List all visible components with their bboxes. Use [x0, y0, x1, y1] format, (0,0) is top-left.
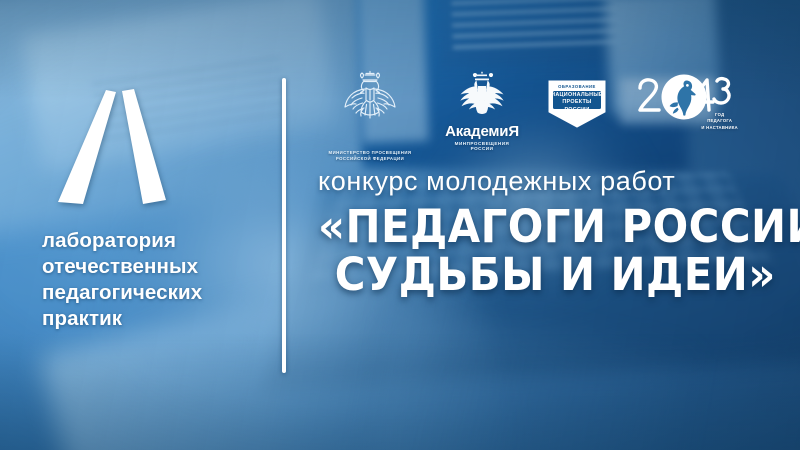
- brand-name-line-3: педагогических: [42, 280, 268, 306]
- headline-line-2: СУДЬБЫ И ИДЕИ»: [335, 251, 755, 299]
- title-block: конкурс молодежных работ «ПЕДАГОГИ РОССИ…: [318, 168, 788, 299]
- double-headed-eagle-icon: [460, 71, 503, 114]
- logo-strip: МИНИСТЕРСТВО ПРОСВЕЩЕНИЯ РОССИЙСКОЙ ФЕДЕ…: [322, 68, 740, 150]
- poster: лаборатория отечественных педагогических…: [0, 0, 800, 450]
- brand-block: лаборатория отечественных педагогических…: [38, 88, 268, 332]
- headline: «ПЕДАГОГИ РОССИИ: СУДЬБЫ И ИДЕИ»: [318, 203, 755, 299]
- logo-akademia-wordmark: АкадемиЯ: [444, 124, 520, 139]
- brand-name-line-1: лаборатория: [42, 228, 268, 254]
- logo-national-projects-eyebrow: ОБРАЗОВАНИЕ: [546, 84, 608, 89]
- logo-year-2023: ГОД ПЕДАГОГА И НАСТАВНИКА: [634, 72, 740, 132]
- kicker-text: конкурс молодежных работ: [318, 168, 788, 195]
- vertical-divider: [282, 78, 286, 373]
- brand-name: лаборатория отечественных педагогических…: [42, 228, 268, 332]
- logo-national-projects-caption-line-3: РОССИИ: [546, 107, 608, 115]
- lambda-mark-icon: [56, 88, 168, 206]
- logo-ministry-of-education: МИНИСТЕРСТВО ПРОСВЕЩЕНИЯ РОССИЙСКОЙ ФЕДЕ…: [322, 68, 418, 163]
- logo-national-projects: ОБРАЗОВАНИЕ НАЦИОНАЛЬНЫЕ ПРОЕКТЫ РОССИИ: [546, 78, 608, 130]
- headline-line-1: «ПЕДАГОГИ РОССИИ:: [318, 203, 755, 251]
- logo-year-caption-line-3: И НАСТАВНИКА: [701, 125, 738, 131]
- logo-ministry-caption-line-2: РОССИЙСКОЙ ФЕДЕРАЦИИ: [322, 156, 418, 162]
- logo-akademia: АкадемиЯ МИНПРОСВЕЩЕНИЯ РОССИИ: [444, 68, 520, 151]
- double-headed-eagle-icon: [345, 72, 395, 119]
- logo-akademia-caption: МИНПРОСВЕЩЕНИЯ РОССИИ: [444, 141, 520, 151]
- logo-national-projects-caption-line-2: ПРОЕКТЫ: [546, 99, 608, 107]
- brand-name-line-4: практик: [42, 306, 268, 332]
- logo-national-projects-caption-line-1: НАЦИОНАЛЬНЫЕ: [546, 92, 608, 100]
- brand-name-line-2: отечественных: [42, 254, 268, 280]
